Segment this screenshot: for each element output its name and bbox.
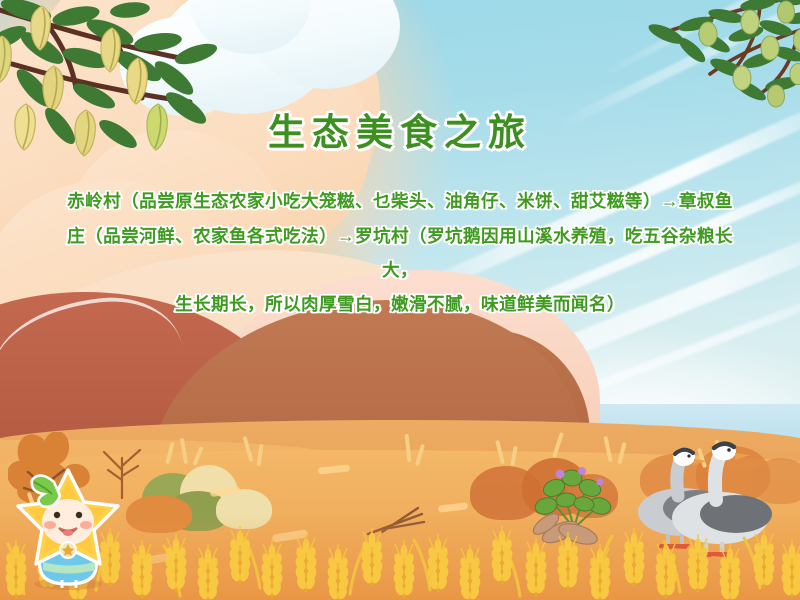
itinerary-description: 赤岭村（品尝原生态农家小吃大笼糍、乜柴头、油角仔、米饼、甜艾糍等）→章叔鱼 庄（…	[50, 184, 750, 321]
starfruit-mascot-icon	[10, 462, 128, 590]
poster-canvas: 生态美食之旅 赤岭村（品尝原生态农家小吃大笼糍、乜柴头、油角仔、米饼、甜艾糍等）…	[0, 0, 800, 600]
itinerary-line: 赤岭村（品尝原生态农家小吃大笼糍、乜柴头、油角仔、米饼、甜艾糍等）→章叔鱼	[50, 184, 750, 218]
itinerary-line: 生长期长，所以肉厚雪白，嫩滑不腻，味道鲜美而闻名）	[50, 287, 750, 321]
itinerary-line: 庄（品尝河鲜、农家鱼各式吃法）→罗坑村（罗坑鹅因用山溪水养殖，吃五谷杂粮长大，	[50, 219, 750, 288]
page-title: 生态美食之旅	[0, 110, 800, 156]
text-block: 生态美食之旅 赤岭村（品尝原生态农家小吃大笼糍、乜柴头、油角仔、米饼、甜艾糍等）…	[0, 110, 800, 321]
